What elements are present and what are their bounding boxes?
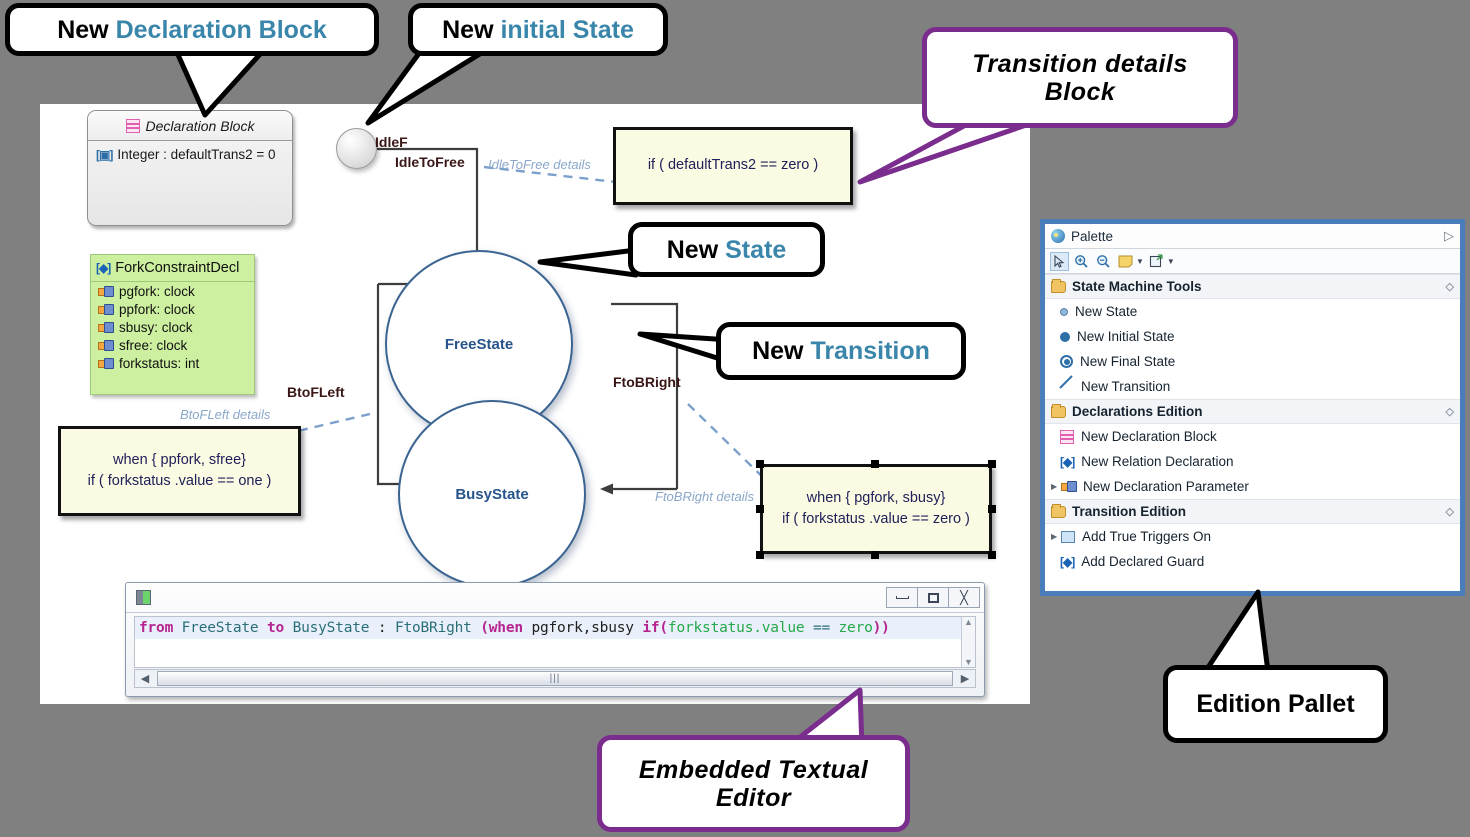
callout-prefix: New (752, 337, 810, 365)
callout-embedded-textual-editor: Embedded Textual Editor (597, 735, 910, 832)
callout-new-state: New State (628, 222, 825, 277)
callout-line-1: Edition Pallet (1196, 690, 1354, 718)
callout-line-2: Block (1045, 78, 1116, 106)
callout-prefix: New (442, 16, 500, 44)
callout-prefix: New (667, 236, 725, 264)
callout-highlight: Transition (810, 337, 929, 365)
callout-line-1: Embedded Textual (639, 756, 868, 784)
callout-line-2: Editor (716, 784, 791, 812)
callout-new-transition: New Transition (716, 322, 966, 380)
callout-edition-pallet: Edition Pallet (1163, 665, 1388, 743)
callout-highlight: Declaration Block (116, 16, 327, 44)
callout-transition-details-block: Transition details Block (922, 27, 1238, 128)
callout-highlight: State (725, 236, 786, 264)
callout-new-initial-state: New initial State (408, 3, 668, 56)
callout-highlight: initial State (500, 16, 633, 44)
callout-new-declaration-block: New Declaration Block (5, 3, 379, 56)
callout-prefix: New (57, 16, 115, 44)
callout-line-1: Transition details (972, 50, 1188, 78)
